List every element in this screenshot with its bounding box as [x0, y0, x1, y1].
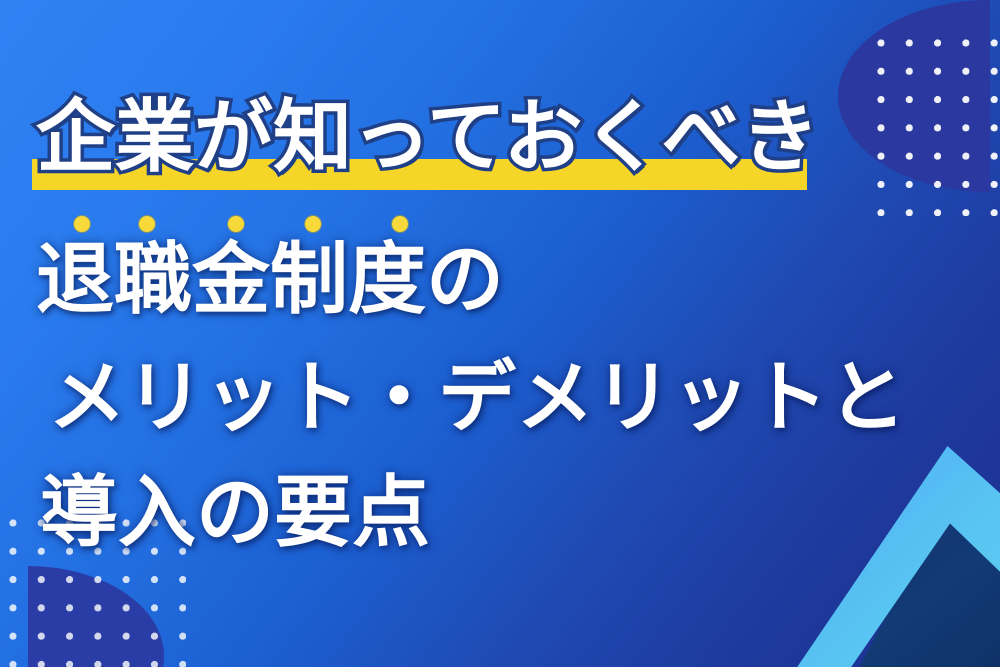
title-line-1-text-fill: 企業が知っておくべき: [36, 97, 820, 176]
accent-dot: [74, 216, 90, 232]
title-line-4: 導入の要点: [40, 473, 430, 551]
title-line-1: 企業が知っておくべき 企業が知っておくべき: [36, 97, 820, 176]
title-line-3: メリット・デメリットと: [48, 358, 906, 436]
accent-dot: [392, 216, 408, 232]
title-banner: 企業が知っておくべき 企業が知っておくべき 退職金制度の メリット・デメリットと…: [0, 0, 1000, 667]
accent-dot: [139, 216, 155, 232]
accent-dot: [228, 216, 244, 232]
title-line-2: 退職金制度の: [36, 240, 504, 318]
title-block: 企業が知っておくべき 企業が知っておくべき 退職金制度の メリット・デメリットと…: [0, 0, 1000, 667]
accent-dot: [305, 216, 321, 232]
